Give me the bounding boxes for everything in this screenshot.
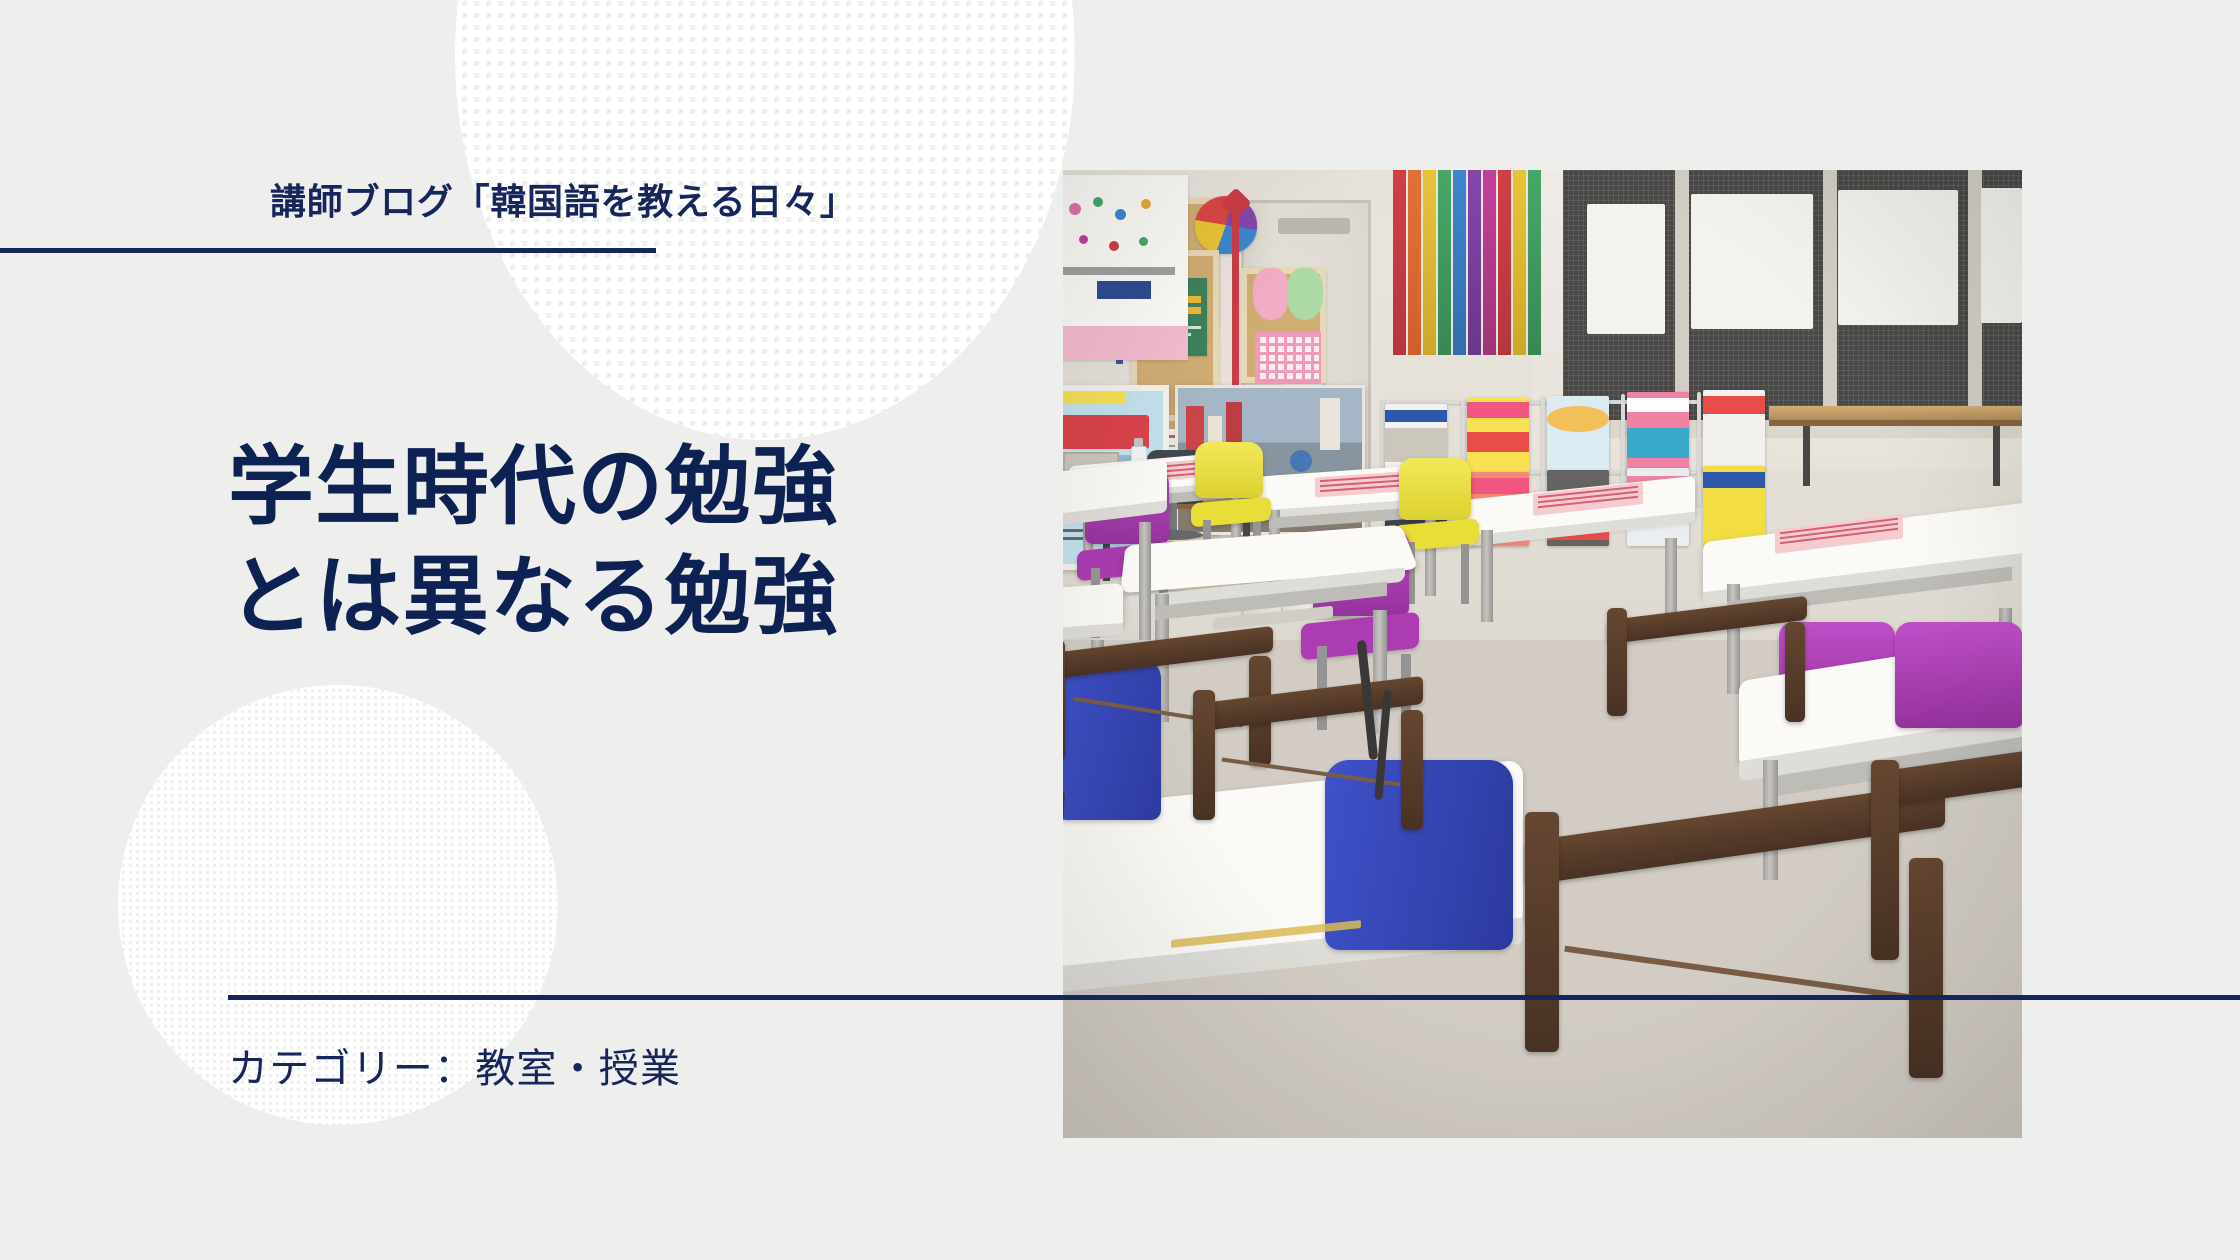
page-title: 学生時代の勉強 とは異なる勉強 [228, 432, 839, 652]
door-closer [1278, 218, 1350, 234]
banner-strip [1513, 170, 1526, 355]
banner-strip [1423, 170, 1436, 355]
hanbok-green-icon [1287, 268, 1323, 320]
magazine [1547, 396, 1609, 472]
page-title-line-1: 学生時代の勉強 [228, 432, 839, 542]
page-title-line-2: とは異なる勉強 [228, 542, 839, 652]
banner-strip [1483, 170, 1496, 355]
magazine-rack-post [1541, 396, 1545, 506]
category-label: カテゴリー：教室・授業 [228, 1036, 681, 1094]
norigae-right [1225, 192, 1247, 404]
classroom-photo [1063, 170, 2022, 1138]
poster-exam-flyer [1063, 175, 1188, 360]
bottle-cap [1134, 438, 1143, 447]
magazine-rack-post [1697, 392, 1701, 506]
blog-series-label: 講師ブログ「韓国語を教える日々」 [270, 173, 856, 225]
magazine [1627, 392, 1689, 472]
banner-strip [1393, 170, 1406, 355]
banner-strip [1453, 170, 1466, 355]
magazine [1703, 466, 1765, 546]
banner-strip [1438, 170, 1451, 355]
banner-strip [1408, 170, 1421, 355]
banner-strip [1468, 170, 1481, 355]
hanbok-pink-icon [1253, 268, 1289, 320]
pink-hangul-chart [1255, 332, 1321, 384]
magazine [1703, 390, 1765, 472]
poster-canvas: 講師ブログ「韓国語を教える日々」 学生時代の勉強 とは異なる勉強 カテゴリー：教… [0, 0, 2240, 1260]
divider-line-bottom [228, 995, 2240, 1000]
banner-strip [1528, 170, 1541, 355]
window-mullion [1968, 170, 1982, 420]
table-leg [1993, 426, 2000, 486]
window-pane [1587, 204, 1665, 334]
floor-tag [1063, 385, 1125, 403]
window-mullion [1823, 170, 1837, 420]
table-leg [1803, 426, 1810, 486]
window-pane [1838, 190, 1958, 325]
window-mullion [1675, 170, 1689, 420]
banner-strip [1498, 170, 1511, 355]
corkboard-hanbok [1241, 268, 1326, 383]
side-table-top [1769, 406, 2022, 420]
window-pane [1691, 194, 1813, 329]
window-pane [1981, 188, 2022, 323]
magazine [1467, 398, 1529, 472]
divider-line-top [0, 248, 656, 253]
